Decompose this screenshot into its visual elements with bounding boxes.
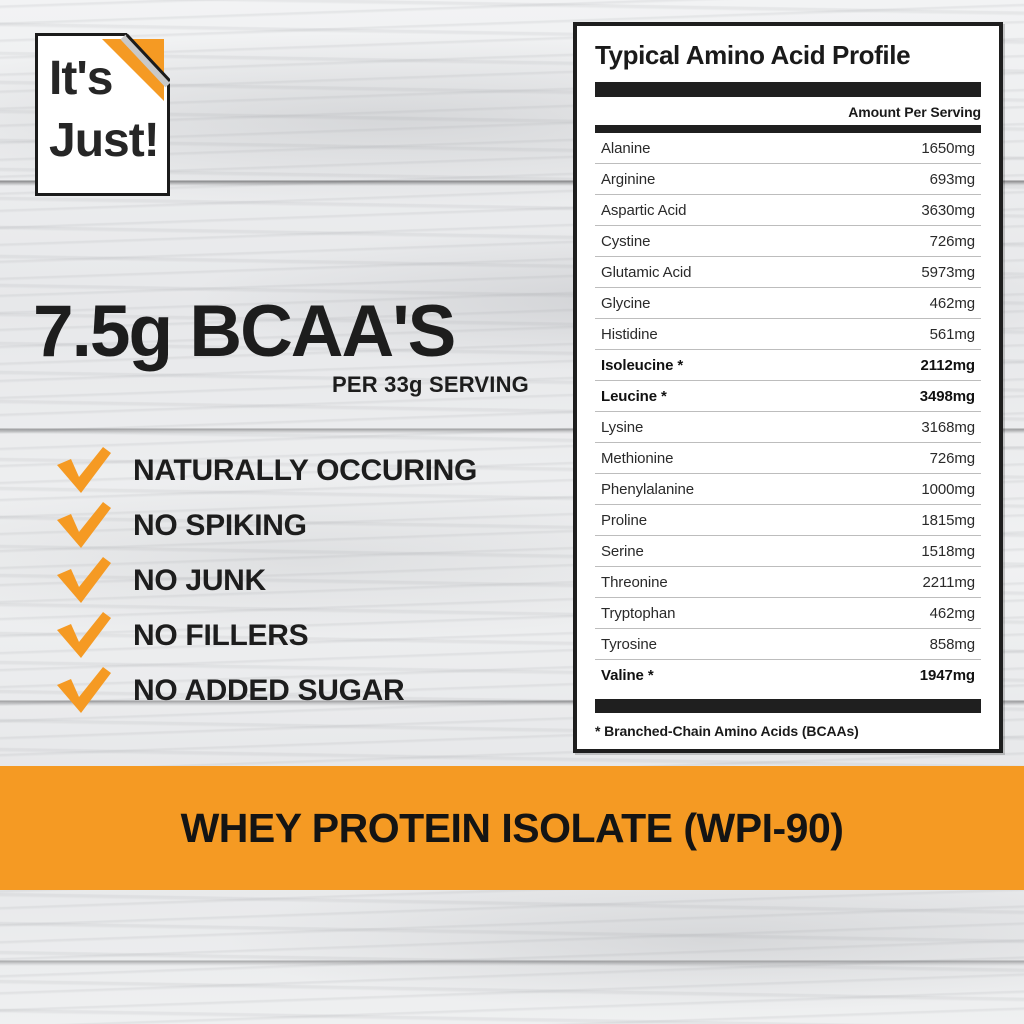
amino-amount: 3498mg [827,381,981,412]
amino-name: Phenylalanine [595,474,827,505]
table-row: Histidine561mg [595,319,981,350]
amino-amount: 3168mg [827,412,981,443]
benefit-item: NO JUNK [55,553,555,608]
amino-name: Glutamic Acid [595,257,827,288]
amino-amount: 858mg [827,629,981,660]
amino-acid-table: Alanine1650mgArginine693mgAspartic Acid3… [595,133,981,690]
product-banner: WHEY PROTEIN ISOLATE (WPI-90) [0,766,1024,890]
amino-amount: 726mg [827,443,981,474]
panel-rule-thin [595,125,981,133]
table-row: Arginine693mg [595,164,981,195]
benefit-label: NO ADDED SUGAR [133,674,404,708]
benefit-label: NO FILLERS [133,619,308,653]
amino-name: Arginine [595,164,827,195]
panel-rule-thick [595,82,981,97]
table-row: Tyrosine858mg [595,629,981,660]
table-row: Isoleucine *2112mg [595,350,981,381]
amino-name: Alanine [595,133,827,164]
amino-name: Methionine [595,443,827,474]
amino-name: Tryptophan [595,598,827,629]
check-icon [55,447,113,495]
amino-name: Threonine [595,567,827,598]
benefit-label: NO JUNK [133,564,266,598]
amino-name: Tyrosine [595,629,827,660]
amino-amount: 2211mg [827,567,981,598]
check-icon [55,502,113,550]
logo-text-line2: Just! [49,117,159,165]
amino-name: Cystine [595,226,827,257]
serving-subtitle: PER 33g SERVING [33,372,533,398]
table-row: Threonine2211mg [595,567,981,598]
table-row: Glutamic Acid5973mg [595,257,981,288]
amino-amount: 462mg [827,598,981,629]
table-row: Phenylalanine1000mg [595,474,981,505]
amount-column-header: Amount Per Serving [595,104,981,120]
amino-name: Valine * [595,660,827,691]
page-title: 7.5g BCAA'S [33,296,533,368]
amino-name: Aspartic Acid [595,195,827,226]
amino-amount: 1947mg [827,660,981,691]
amino-name: Serine [595,536,827,567]
amino-name: Leucine * [595,381,827,412]
table-row: Glycine462mg [595,288,981,319]
amino-amount: 5973mg [827,257,981,288]
benefit-item: NATURALLY OCCURING [55,443,555,498]
table-row: Alanine1650mg [595,133,981,164]
table-row: Cystine726mg [595,226,981,257]
table-row: Methionine726mg [595,443,981,474]
amino-amount: 1650mg [827,133,981,164]
check-icon [55,557,113,605]
table-row: Proline1815mg [595,505,981,536]
banner-text: WHEY PROTEIN ISOLATE (WPI-90) [181,805,844,852]
amino-name: Isoleucine * [595,350,827,381]
amino-amount: 1518mg [827,536,981,567]
logo-text-line1: It's [49,55,112,103]
amino-name: Lysine [595,412,827,443]
amino-amount: 462mg [827,288,981,319]
amino-name: Histidine [595,319,827,350]
amino-amount: 2112mg [827,350,981,381]
brand-logo: It's Just! [35,33,170,196]
amino-amount: 561mg [827,319,981,350]
benefit-item: NO FILLERS [55,608,555,663]
benefit-item: NO SPIKING [55,498,555,553]
amino-amount: 1000mg [827,474,981,505]
table-row: Aspartic Acid3630mg [595,195,981,226]
table-row: Lysine3168mg [595,412,981,443]
amino-amount: 726mg [827,226,981,257]
table-row: Valine *1947mg [595,660,981,691]
check-icon [55,667,113,715]
table-row: Tryptophan462mg [595,598,981,629]
table-row: Serine1518mg [595,536,981,567]
amino-name: Proline [595,505,827,536]
panel-rule-footer [595,699,981,713]
headline-block: 7.5g BCAA'S PER 33g SERVING [33,296,533,398]
table-row: Leucine *3498mg [595,381,981,412]
benefit-label: NATURALLY OCCURING [133,454,477,488]
benefit-label: NO SPIKING [133,509,307,543]
amino-amount: 693mg [827,164,981,195]
amino-amount: 3630mg [827,195,981,226]
panel-footnote: * Branched-Chain Amino Acids (BCAAs) [595,723,981,739]
amino-acid-panel: Typical Amino Acid Profile Amount Per Se… [573,22,1003,753]
amino-amount: 1815mg [827,505,981,536]
benefit-item: NO ADDED SUGAR [55,663,555,718]
benefits-list: NATURALLY OCCURINGNO SPIKINGNO JUNKNO FI… [55,443,555,718]
amino-name: Glycine [595,288,827,319]
panel-title: Typical Amino Acid Profile [595,40,981,71]
check-icon [55,612,113,660]
